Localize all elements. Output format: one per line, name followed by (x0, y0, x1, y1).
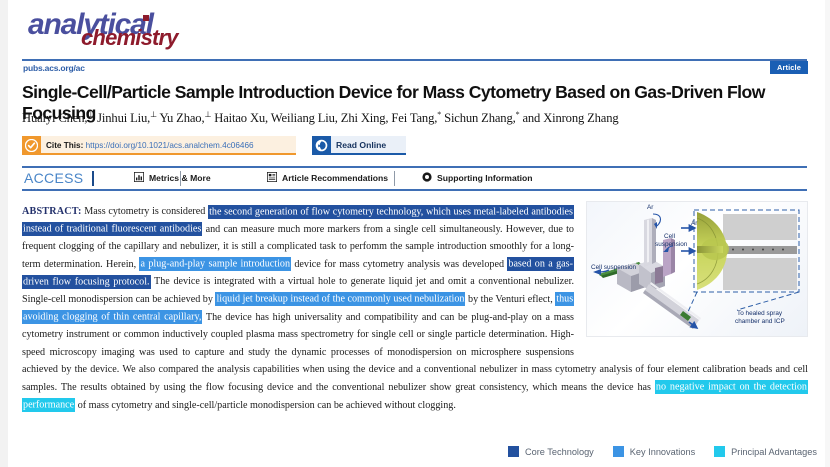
abstract-segment: device for mass cytometry analysis was d… (291, 259, 507, 270)
access-divider (394, 171, 395, 186)
article-page: analytical chemistry pubs.acs.org/ac Art… (0, 0, 830, 467)
access-bar: ACCESS Metrics & More (22, 168, 807, 189)
cite-this-label: Cite This: (46, 141, 83, 150)
access-bar-bottom-rule (22, 189, 807, 191)
figure-label-chamber-and-icp: chamber and ICP (735, 318, 785, 325)
bar-chart-icon (134, 172, 144, 184)
legend-swatch-core-technology (508, 446, 519, 457)
abstract-lead-label: ABSTRACT: (22, 206, 82, 217)
legend-swatch-key-innovations (613, 446, 624, 457)
abstract-segment: by the Venturi eflect, (465, 294, 555, 305)
access-caret (92, 171, 94, 186)
cite-doi[interactable]: https://doi.org/10.1021/acs.analchem.4c0… (86, 141, 254, 150)
filled-circle-icon (422, 172, 432, 184)
legend-label-key-innovations: Key Innovations (630, 447, 695, 457)
figure-label-to-spray-chamber: To healed spray (737, 310, 782, 317)
author-list: Huaiyi Chen,⊥ Jinhui Liu,⊥ Yu Zhao,⊥ Hai… (22, 110, 812, 126)
supporting-information-label: Supporting Information (437, 173, 532, 183)
journal-logo-dot (143, 15, 149, 21)
figure-label-cell-suspension-left: Cell suspension (591, 264, 636, 271)
cite-this-link[interactable]: Cite This: https://doi.org/10.1021/acs.a… (41, 136, 296, 155)
abstract-segment: Mass cytometry is considered (82, 206, 209, 217)
access-label[interactable]: ACCESS (24, 170, 83, 186)
graphical-abstract-figure: Ar Cell suspension Ar Cell suspension To… (586, 201, 808, 337)
figure-label-ar-inset: Ar (691, 220, 697, 227)
abstract-highlight-key: a plug-and-play sample introduction (139, 257, 291, 271)
legend-item-key-innovations: Key Innovations (613, 446, 695, 457)
figure-label-suspension: suspension (655, 241, 687, 248)
article-grid-icon (267, 172, 277, 184)
read-online-icon (312, 136, 331, 155)
journal-logo-chemistry: chemistry (81, 25, 178, 51)
check-circle-icon (22, 136, 41, 155)
legend-item-principal-advantages: Principal Advantages (714, 446, 817, 457)
legend-item-core-technology: Core Technology (508, 446, 594, 457)
abstract-highlight-key: liquid jet breakup instead of the common… (215, 292, 465, 306)
legend-swatch-principal-advantages (714, 446, 725, 457)
page-right-gutter (825, 0, 830, 467)
read-online-button[interactable]: Read Online (331, 136, 406, 155)
article-recommendations-label: Article Recommendations (282, 173, 388, 183)
abstract-segment: of mass cytometry and single-cell/partic… (75, 400, 456, 411)
article-recommendations-button[interactable]: Article Recommendations (267, 172, 388, 184)
journal-url[interactable]: pubs.acs.org/ac (23, 63, 85, 73)
figure-label-ar-top: Ar (647, 204, 653, 211)
article-type-badge: Article (770, 61, 808, 74)
metrics-and-more-button[interactable]: Metrics & More (134, 172, 211, 184)
figure-label-cell: Cell (664, 233, 675, 240)
journal-masthead: analytical chemistry (28, 6, 228, 52)
journal-rule (22, 59, 807, 61)
supporting-information-button[interactable]: Supporting Information (422, 172, 532, 184)
legend-label-core-technology: Core Technology (525, 447, 594, 457)
page-left-gutter (0, 0, 8, 467)
highlight-legend: Core Technology Key Innovations Principa… (508, 446, 817, 457)
legend-label-principal-advantages: Principal Advantages (731, 447, 817, 457)
metrics-and-more-label: Metrics & More (149, 173, 211, 183)
